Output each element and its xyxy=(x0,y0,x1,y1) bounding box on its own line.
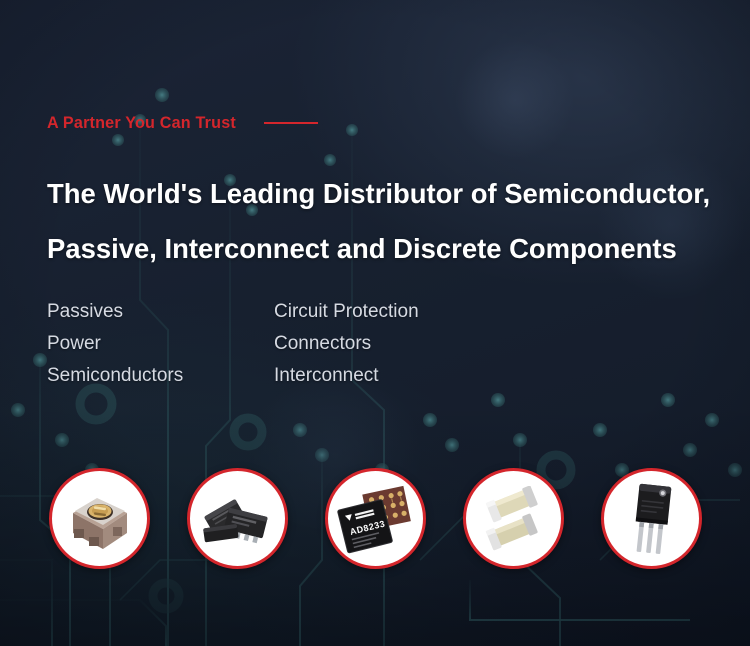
hero-banner: A Partner You Can Trust The World's Lead… xyxy=(0,0,750,646)
category-column-2: Circuit Protection Connectors Interconne… xyxy=(274,296,419,392)
category-column-1: Passives Power Semiconductors xyxy=(47,296,274,392)
ic-packages-icon xyxy=(190,471,285,566)
product-circle-to247-power-transistor[interactable] xyxy=(601,468,702,569)
product-circle-trimmer-potentiometer[interactable] xyxy=(49,468,150,569)
hero-content: A Partner You Can Trust The World's Lead… xyxy=(0,0,750,646)
trimmer-potentiometer-icon xyxy=(52,471,147,566)
product-circle-smd-chip-fuses[interactable] xyxy=(463,468,564,569)
category-item-interconnect[interactable]: Interconnect xyxy=(274,360,419,392)
category-item-connectors[interactable]: Connectors xyxy=(274,328,419,360)
category-item-passives[interactable]: Passives xyxy=(47,296,274,328)
category-item-power[interactable]: Power xyxy=(47,328,274,360)
ad8233-chip-icon: AD8233 xyxy=(328,471,423,566)
eyebrow: A Partner You Can Trust xyxy=(47,113,318,133)
headline-line-1: The World's Leading Distributor of Semic… xyxy=(47,166,713,221)
eyebrow-rule xyxy=(264,122,318,124)
eyebrow-text: A Partner You Can Trust xyxy=(47,113,236,133)
category-item-semiconductors[interactable]: Semiconductors xyxy=(47,360,274,392)
category-item-circuit-protection[interactable]: Circuit Protection xyxy=(274,296,419,328)
smd-chip-fuses-icon xyxy=(466,471,561,566)
product-circle-analog-devices-ad8233[interactable]: AD8233 xyxy=(325,468,426,569)
product-thumbnail-row: AD8233 xyxy=(0,468,750,570)
category-list: Passives Power Semiconductors Circuit Pr… xyxy=(47,296,419,392)
product-circle-ic-packages[interactable] xyxy=(187,468,288,569)
to247-transistor-icon xyxy=(604,471,699,566)
page-title: The World's Leading Distributor of Semic… xyxy=(47,166,713,276)
headline-line-2: Passive, Interconnect and Discrete Compo… xyxy=(47,221,713,276)
